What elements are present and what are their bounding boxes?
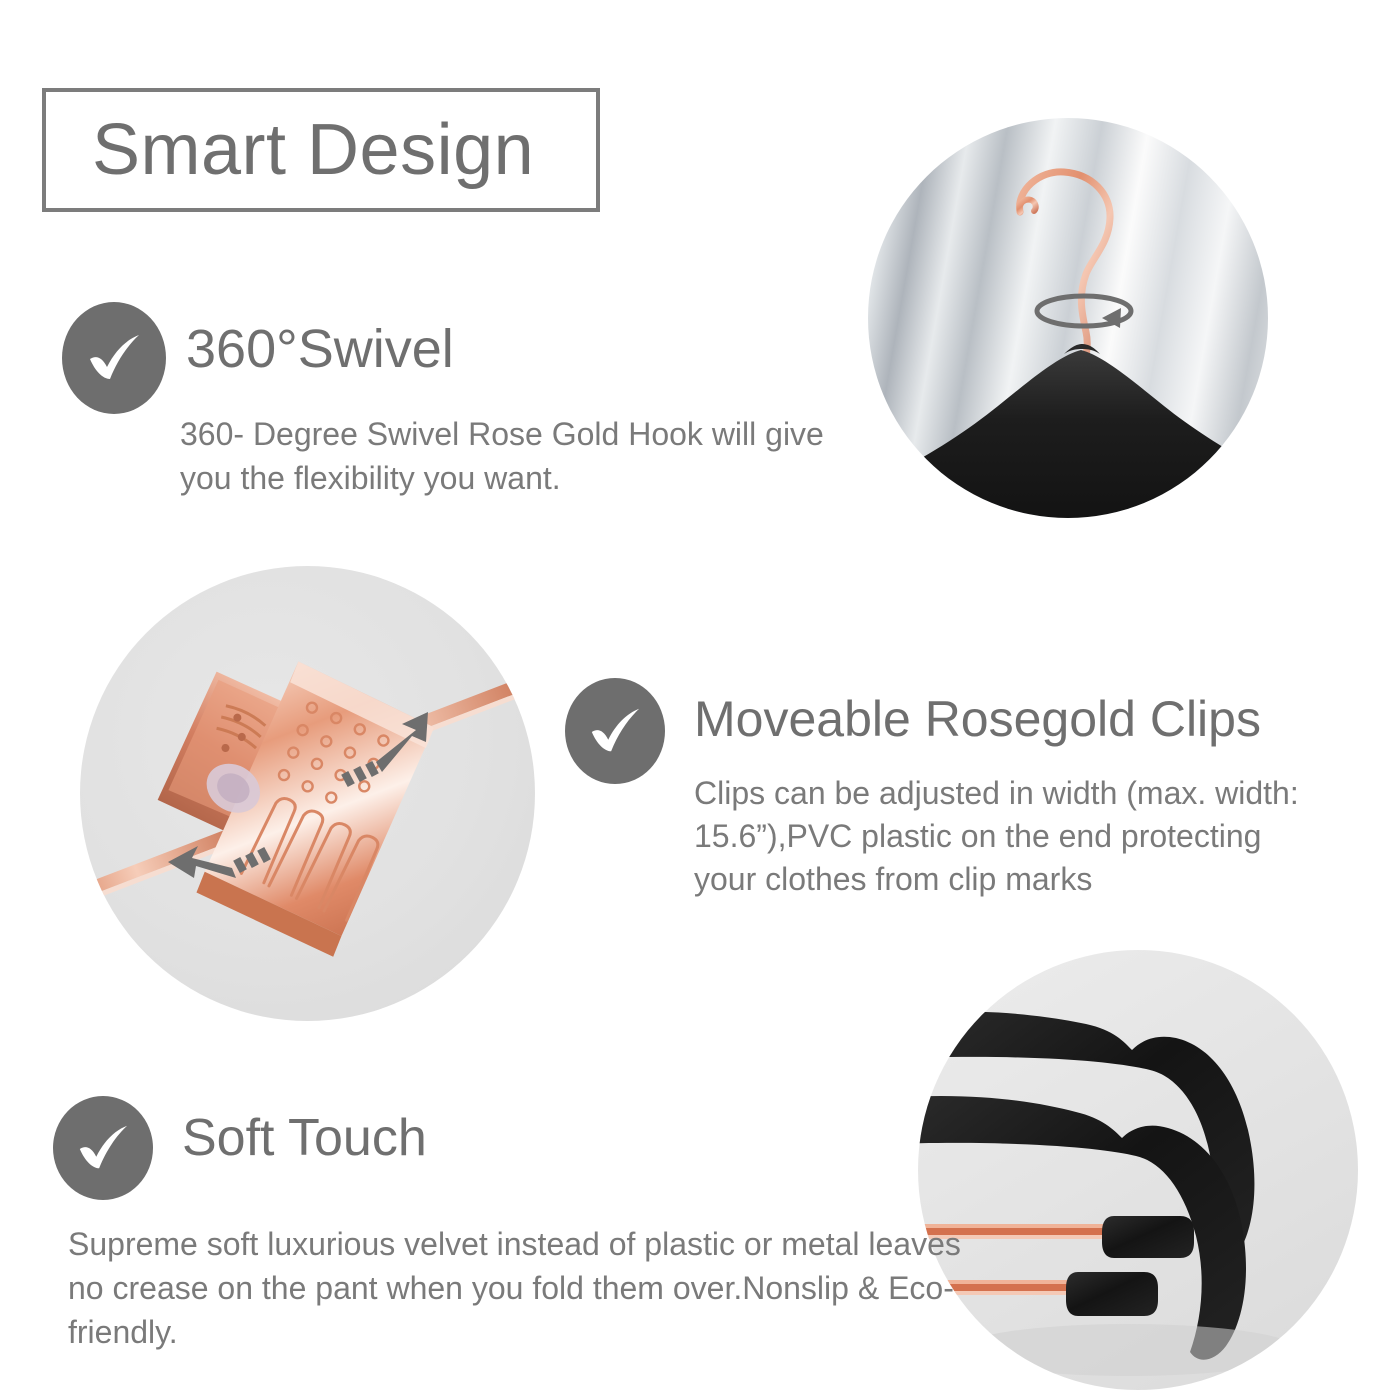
check-badge-icon-clips — [565, 678, 665, 784]
feature-heading-clips: Moveable Rosegold Clips — [694, 694, 1261, 744]
feature-body-soft: Supreme soft luxurious velvet instead of… — [68, 1222, 988, 1354]
check-icon — [83, 329, 145, 387]
feature-heading-swivel: 360°Swivel — [186, 322, 454, 376]
feature-body-swivel: 360- Degree Swivel Rose Gold Hook will g… — [180, 412, 880, 500]
hook-illustration — [868, 118, 1268, 518]
page-title-box: Smart Design — [42, 88, 600, 212]
check-icon — [585, 703, 645, 759]
page-title: Smart Design — [46, 114, 534, 186]
feature-body-clips: Clips can be adjusted in width (max. wid… — [694, 772, 1324, 902]
check-badge-icon-swivel — [62, 302, 166, 414]
photo-swivel-hook — [868, 118, 1268, 518]
feature-heading-soft: Soft Touch — [182, 1112, 427, 1164]
check-badge-icon-soft — [53, 1096, 153, 1200]
clip-illustration — [80, 566, 535, 1021]
infographic-canvas: Smart Design — [0, 0, 1400, 1400]
photo-moveable-clip — [80, 566, 535, 1021]
check-icon — [73, 1120, 133, 1176]
